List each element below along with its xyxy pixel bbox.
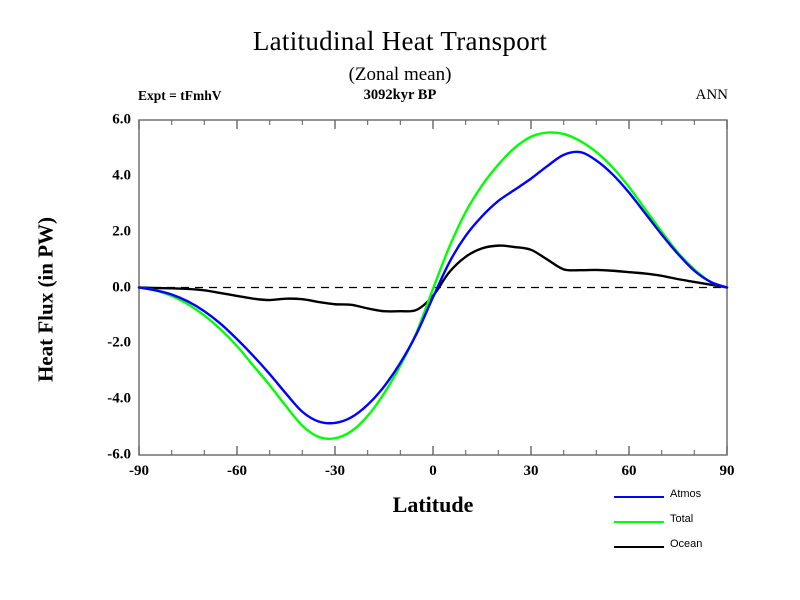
legend-label: Atmos	[670, 488, 701, 500]
legend-label: Total	[670, 513, 693, 525]
legend: AtmosTotalOcean	[614, 485, 794, 560]
series-line-total	[139, 132, 727, 438]
data-series-group	[139, 132, 727, 438]
legend-color-swatch	[614, 496, 664, 498]
chart-figure: Latitudinal Heat Transport (Zonal mean) …	[0, 0, 800, 600]
legend-item: Total	[614, 510, 794, 535]
series-line-ocean	[139, 246, 727, 312]
legend-item: Atmos	[614, 485, 794, 510]
legend-color-swatch	[614, 521, 664, 523]
legend-color-swatch	[614, 546, 664, 548]
legend-label: Ocean	[670, 538, 702, 550]
legend-item: Ocean	[614, 535, 794, 560]
